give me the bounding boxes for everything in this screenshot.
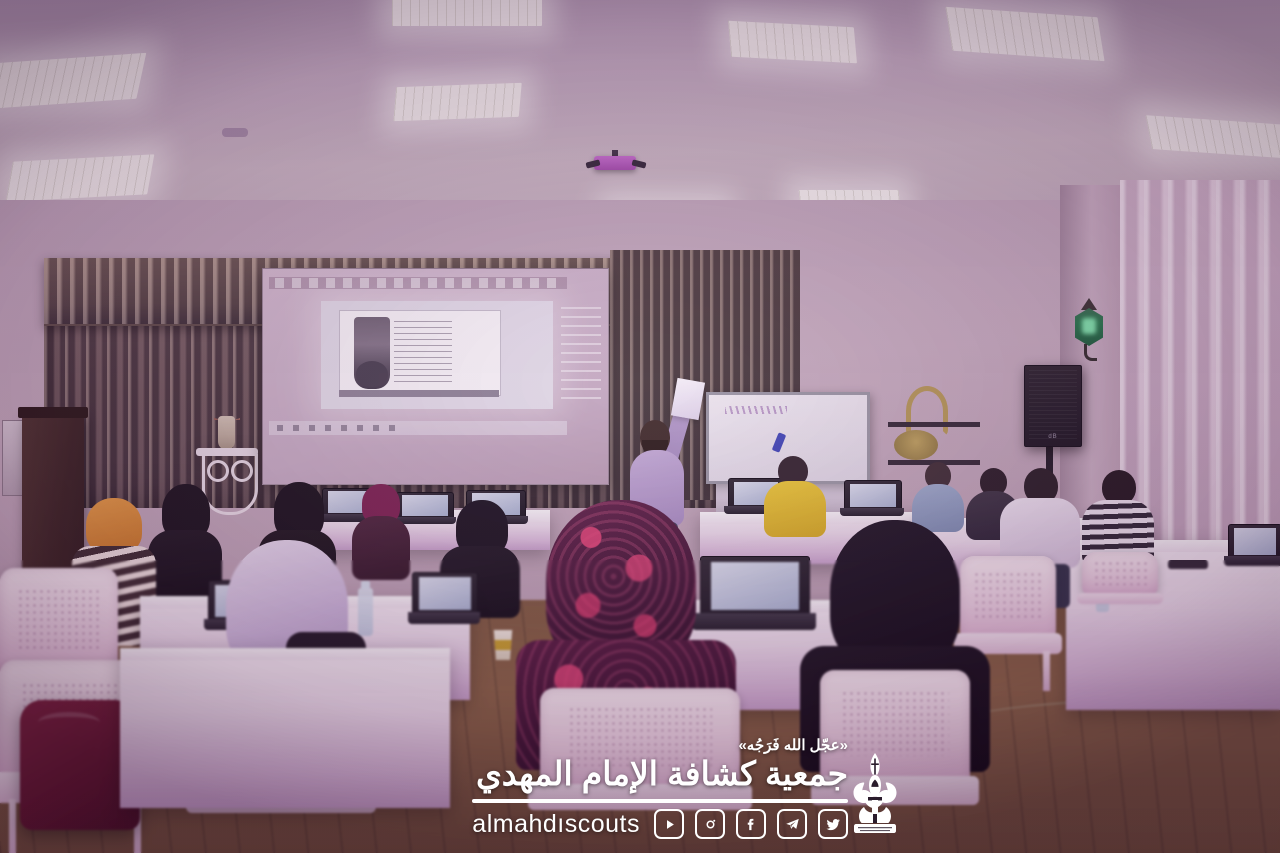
- ceiling-light-panel: [393, 83, 521, 121]
- ceiling-light-panel: [1146, 115, 1280, 159]
- ceiling-light-panel: [6, 154, 155, 201]
- lantern-glow: [1082, 318, 1096, 334]
- laptop-lid: [1228, 524, 1280, 559]
- watermark-text-block: «عجّل الله فَرَجُه» جمعية كشافة الإمام ا…: [472, 738, 848, 839]
- held-papers: [671, 378, 705, 420]
- brass-ornament: [906, 386, 948, 436]
- watermark: «عجّل الله فَرَجُه» جمعية كشافة الإمام ا…: [0, 713, 1280, 853]
- laptop: [1228, 524, 1280, 566]
- projected-application-window: [321, 301, 553, 409]
- laptop-lid: [412, 572, 478, 615]
- chair: [1082, 552, 1158, 622]
- wall-lantern: [1072, 296, 1106, 360]
- vase: [218, 416, 235, 450]
- ceiling-smoke-detector: [222, 128, 248, 137]
- laptop-screen: [419, 577, 472, 610]
- watermark-handle: almahdıscouts: [472, 810, 640, 839]
- brass-plate: [894, 430, 938, 460]
- desk-accessory: [1168, 560, 1208, 569]
- table-edge: [120, 648, 450, 660]
- laptop-screen: [1234, 528, 1277, 555]
- speaker-grille: [1029, 370, 1077, 442]
- projector-body: [594, 156, 636, 170]
- lantern-bracket: [1084, 344, 1097, 361]
- app-filmstrip: [339, 390, 499, 397]
- watermark-org-name: جمعية كشافة الإمام المهدي: [472, 757, 848, 792]
- cup-band: [492, 640, 514, 650]
- dried-flowers: [214, 384, 240, 420]
- ceiling-light-panel: [0, 53, 146, 109]
- photo-canvas: dB: [0, 0, 1280, 853]
- app-menu-bar: [269, 277, 567, 289]
- twitter-icon[interactable]: [818, 809, 848, 839]
- chair-leg: [1043, 651, 1050, 691]
- laptop: [844, 480, 900, 516]
- projector: [588, 150, 644, 176]
- scout-fleur-de-lis-icon: [846, 751, 904, 837]
- laptop: [412, 572, 476, 624]
- laptop-base: [408, 612, 481, 624]
- shelf-board: [888, 422, 980, 427]
- app-layers-panel: [561, 307, 601, 402]
- annotation-lines: [394, 321, 452, 383]
- facebook-icon[interactable]: [736, 809, 766, 839]
- app-canvas: [339, 310, 501, 396]
- app-taskbar: [269, 421, 567, 435]
- chair-seat: [1077, 593, 1162, 604]
- watermark-bottom-row: almahdıscouts: [472, 809, 848, 839]
- whiteboard-handwriting: [725, 406, 787, 414]
- laptop-screen: [850, 484, 896, 507]
- projection-screen: [262, 268, 609, 485]
- pa-speaker: dB: [1024, 365, 1082, 447]
- social-links: [654, 809, 848, 839]
- watermark-dua: «عجّل الله فَرَجُه»: [472, 738, 848, 753]
- lectern-top: [18, 407, 88, 418]
- ceiling-light-panel: [392, 0, 542, 26]
- ceiling-light-panel: [728, 21, 857, 63]
- laptop-lid: [844, 480, 902, 510]
- watermark-divider: [472, 799, 848, 803]
- instagram-icon[interactable]: [695, 809, 725, 839]
- laptop-base: [840, 508, 904, 516]
- telegram-icon[interactable]: [777, 809, 807, 839]
- chair-back: [1082, 552, 1158, 595]
- youtube-icon[interactable]: [654, 809, 684, 839]
- laptop-base: [1224, 556, 1280, 566]
- guitar-image: [354, 317, 390, 389]
- speaker-logo: dB: [1048, 434, 1057, 440]
- blue-marker: [772, 432, 787, 453]
- ceiling-light-panel: [945, 7, 1104, 61]
